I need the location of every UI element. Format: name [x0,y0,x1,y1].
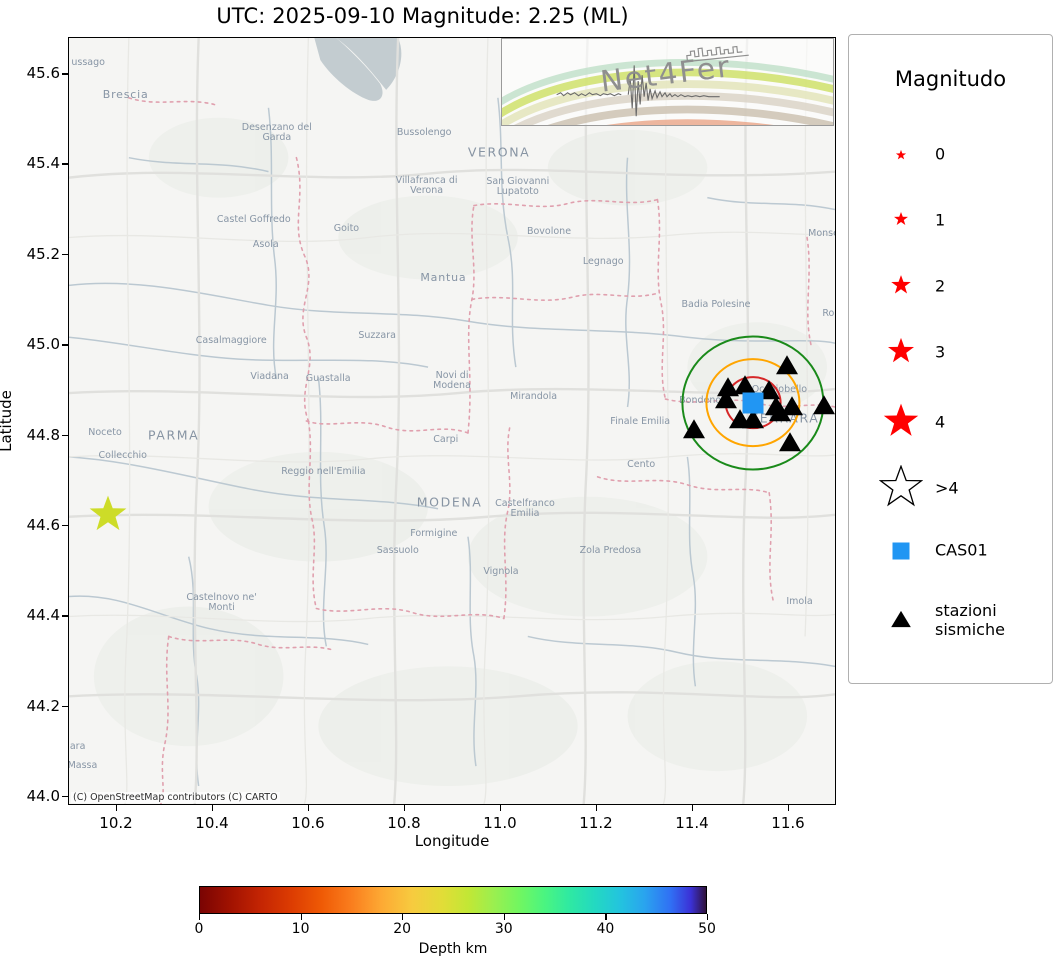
x-axis-tick-label: 10.8 [387,814,420,832]
seismic-station-marker[interactable] [715,389,737,408]
seismic-station-marker[interactable] [683,419,705,438]
legend-item-label: CAS01 [935,542,988,561]
colorbar-tick-label: 50 [698,921,716,937]
x-axis-tick [596,805,597,811]
y-axis-tick-label: 45.2 [10,245,60,263]
net4fer-logo-inset: Net4Fer [501,38,834,126]
star-icon [891,275,912,296]
colorbar-tick-label: 40 [596,921,614,937]
square-icon [893,543,910,560]
y-axis-tick-label: 44.2 [10,697,60,715]
legend-item-label: 4 [935,414,945,433]
depth-colorbar [199,886,707,914]
y-axis-tick [62,254,68,255]
star-icon [887,337,915,365]
net4fer-logo-svg: Net4Fer [502,39,833,125]
legend-item-label: >4 [935,480,959,499]
x-axis-tick-label: 11.0 [483,814,516,832]
star-marker [896,146,907,165]
map-attribution: (C) OpenStreetMap contributors (C) CARTO [71,792,280,803]
colorbar-gradient [199,886,707,914]
colorbar-tick [605,914,606,920]
colorbar-tick-label: 10 [292,921,310,937]
colorbar-tick [707,914,708,920]
star-icon [896,150,907,161]
colorbar-tick-label: 30 [495,921,513,937]
legend-item-label: 1 [935,212,945,231]
triangle-icon [889,610,913,628]
square-marker [893,543,910,560]
y-axis-tick [62,344,68,345]
star-marker [883,403,920,444]
y-axis-tick [62,163,68,164]
x-axis-tick-label: 10.2 [99,814,132,832]
seismic-station-marker[interactable] [776,355,798,374]
x-axis-tick-label: 10.6 [291,814,324,832]
x-axis-tick [788,805,789,811]
legend-item-label: 2 [935,278,945,297]
y-axis-tick [62,73,68,74]
y-axis-tick [62,796,68,797]
y-axis-tick-label: 45.0 [10,335,60,353]
x-axis-tick-label: 10.4 [195,814,228,832]
x-axis-tick-label: 11.6 [771,814,804,832]
colorbar-tick-label: 20 [393,921,411,937]
colorbar-tick [504,914,505,920]
x-axis-tick [692,805,693,811]
x-axis-tick [212,805,213,811]
y-axis-tick [62,435,68,436]
y-axis-tick-label: 44.6 [10,516,60,534]
map-plot-area[interactable]: ussagoBresciaDesenzano delGardaBussoleng… [68,37,836,805]
x-axis-tick [404,805,405,811]
y-axis-tick-label: 44.8 [10,426,60,444]
legend-title: Magnitudo [849,67,1052,91]
colorbar-tick [301,914,302,920]
star-icon [894,212,909,227]
star-marker [887,337,915,369]
colorbar-tick-label: 0 [195,921,204,937]
star-marker [894,212,909,231]
star-outline-marker [879,465,923,513]
svg-text:Net4Fer: Net4Fer [599,50,734,99]
cas01-station-marker[interactable] [743,392,764,413]
y-axis-tick [62,615,68,616]
seismic-station-marker[interactable] [779,432,801,451]
x-axis-tick [500,805,501,811]
legend-item-label: 3 [935,344,945,363]
colorbar-tick [199,914,200,920]
star-icon [88,494,128,534]
x-axis-tick-label: 11.2 [579,814,612,832]
x-axis-label: Longitude [415,832,490,850]
y-axis-tick [62,525,68,526]
y-axis-tick-label: 44.4 [10,606,60,624]
star-icon [883,403,920,440]
x-axis-tick [308,805,309,811]
seismic-station-marker[interactable] [813,395,835,414]
magnitude-legend: Magnitudo 01234>4CAS01stazioni sismiche [848,34,1053,684]
page-title: UTC: 2025-09-10 Magnitude: 2.25 (ML) [0,4,845,28]
seismic-station-marker[interactable] [781,396,803,415]
triangle-marker [889,610,913,632]
y-axis-tick-label: 44.0 [10,787,60,805]
star-icon [879,465,923,509]
x-axis-tick-label: 11.4 [675,814,708,832]
epicenter-star-marker[interactable] [88,494,128,538]
colorbar-label: Depth km [419,941,488,957]
y-axis-label: Latitude [0,390,15,452]
colorbar-tick [402,914,403,920]
y-axis-tick-label: 45.4 [10,154,60,172]
y-axis-tick-label: 45.6 [10,64,60,82]
legend-item-label: 0 [935,146,945,165]
x-axis-tick [116,805,117,811]
y-axis-tick [62,706,68,707]
legend-item-label: stazioni sismiche [935,602,1005,640]
star-marker [891,275,912,300]
